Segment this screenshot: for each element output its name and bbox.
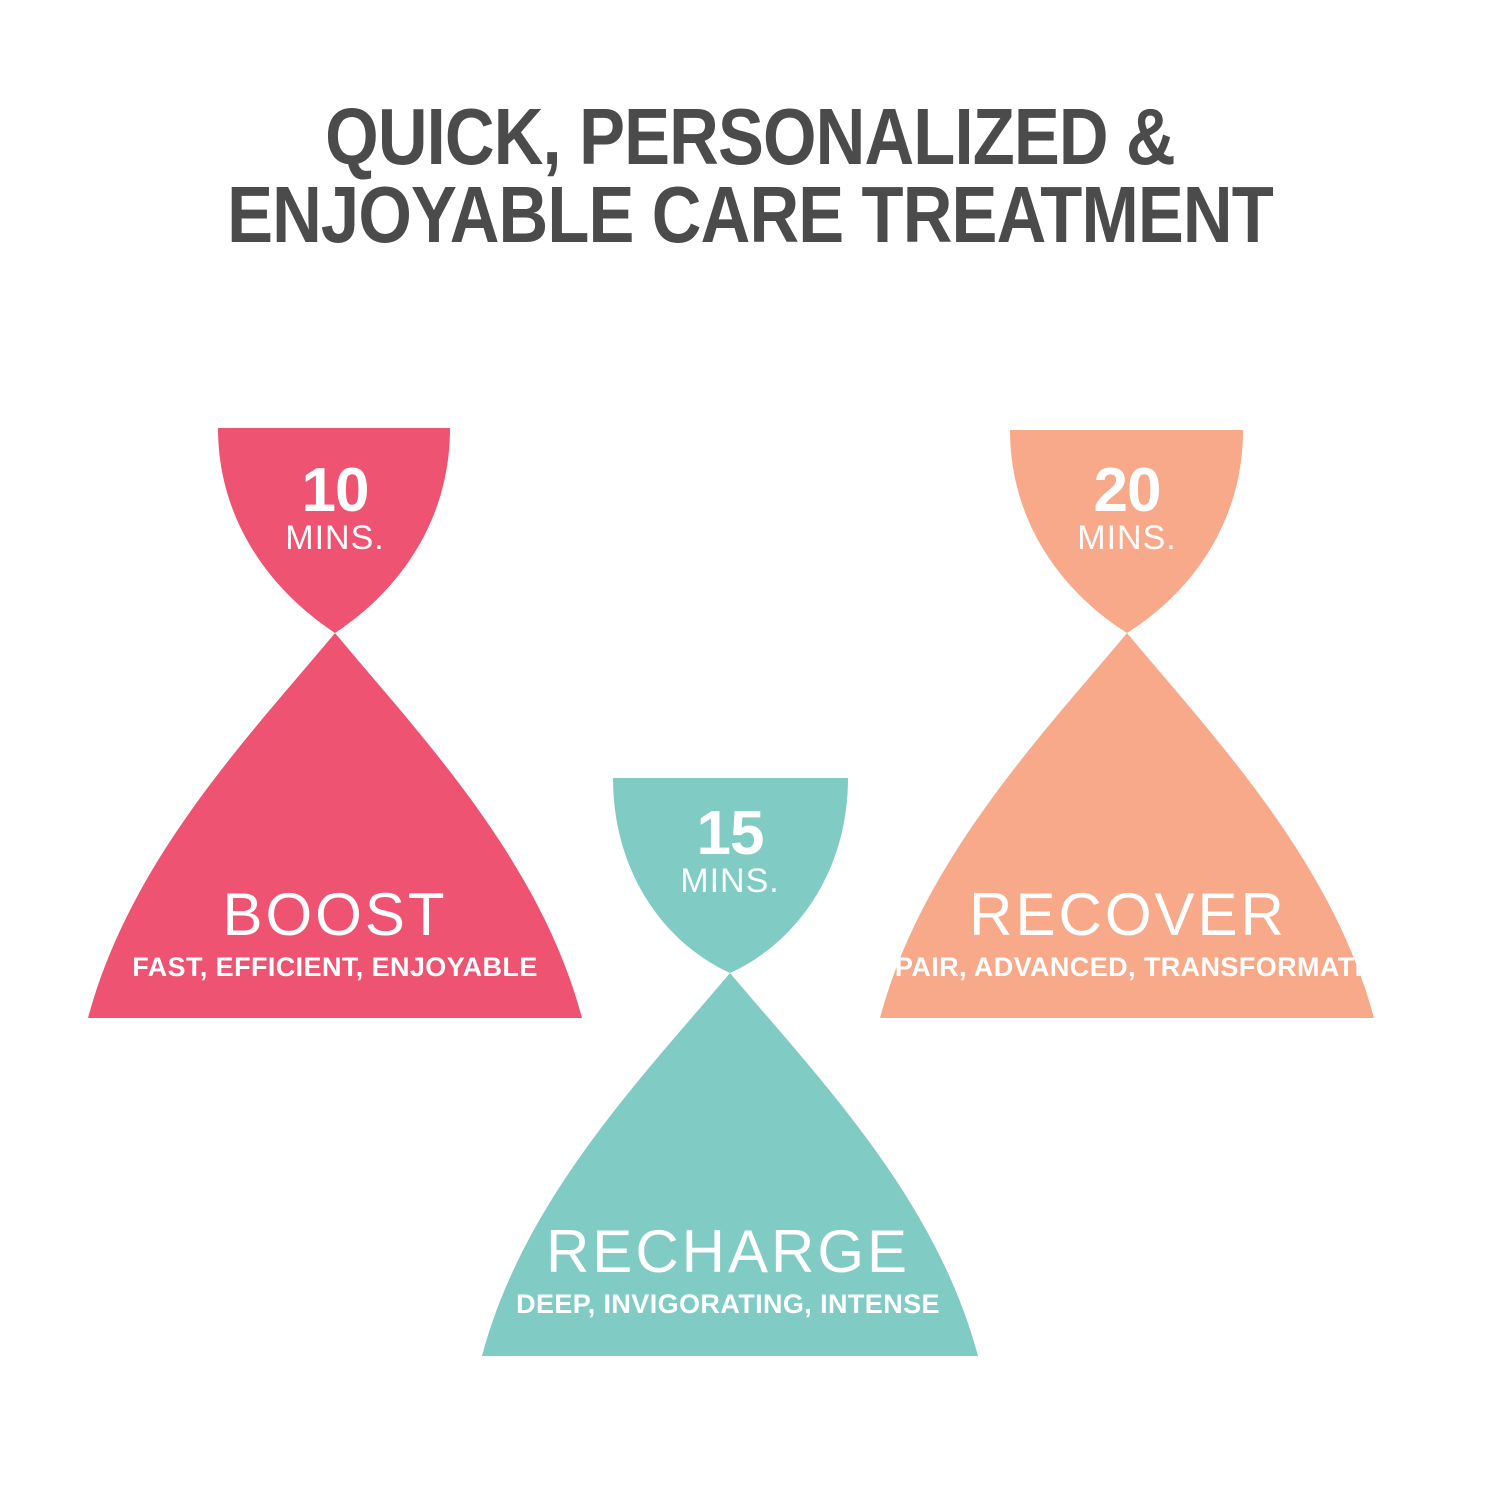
recharge-bottom-dome <box>482 973 978 1356</box>
infographic-canvas: QUICK, PERSONALIZED & ENJOYABLE CARE TRE… <box>0 0 1500 1500</box>
boost-top-cone <box>218 428 450 633</box>
recover-top-cone <box>1010 430 1243 633</box>
hourglass-boost[interactable] <box>88 428 582 1018</box>
hourglass-recover[interactable] <box>880 430 1374 1018</box>
recharge-top-cone <box>613 778 848 973</box>
boost-bottom-dome <box>88 633 582 1018</box>
hourglass-shapes-group <box>0 0 1500 1500</box>
recover-bottom-dome <box>880 633 1374 1018</box>
hourglass-recharge[interactable] <box>482 778 978 1356</box>
